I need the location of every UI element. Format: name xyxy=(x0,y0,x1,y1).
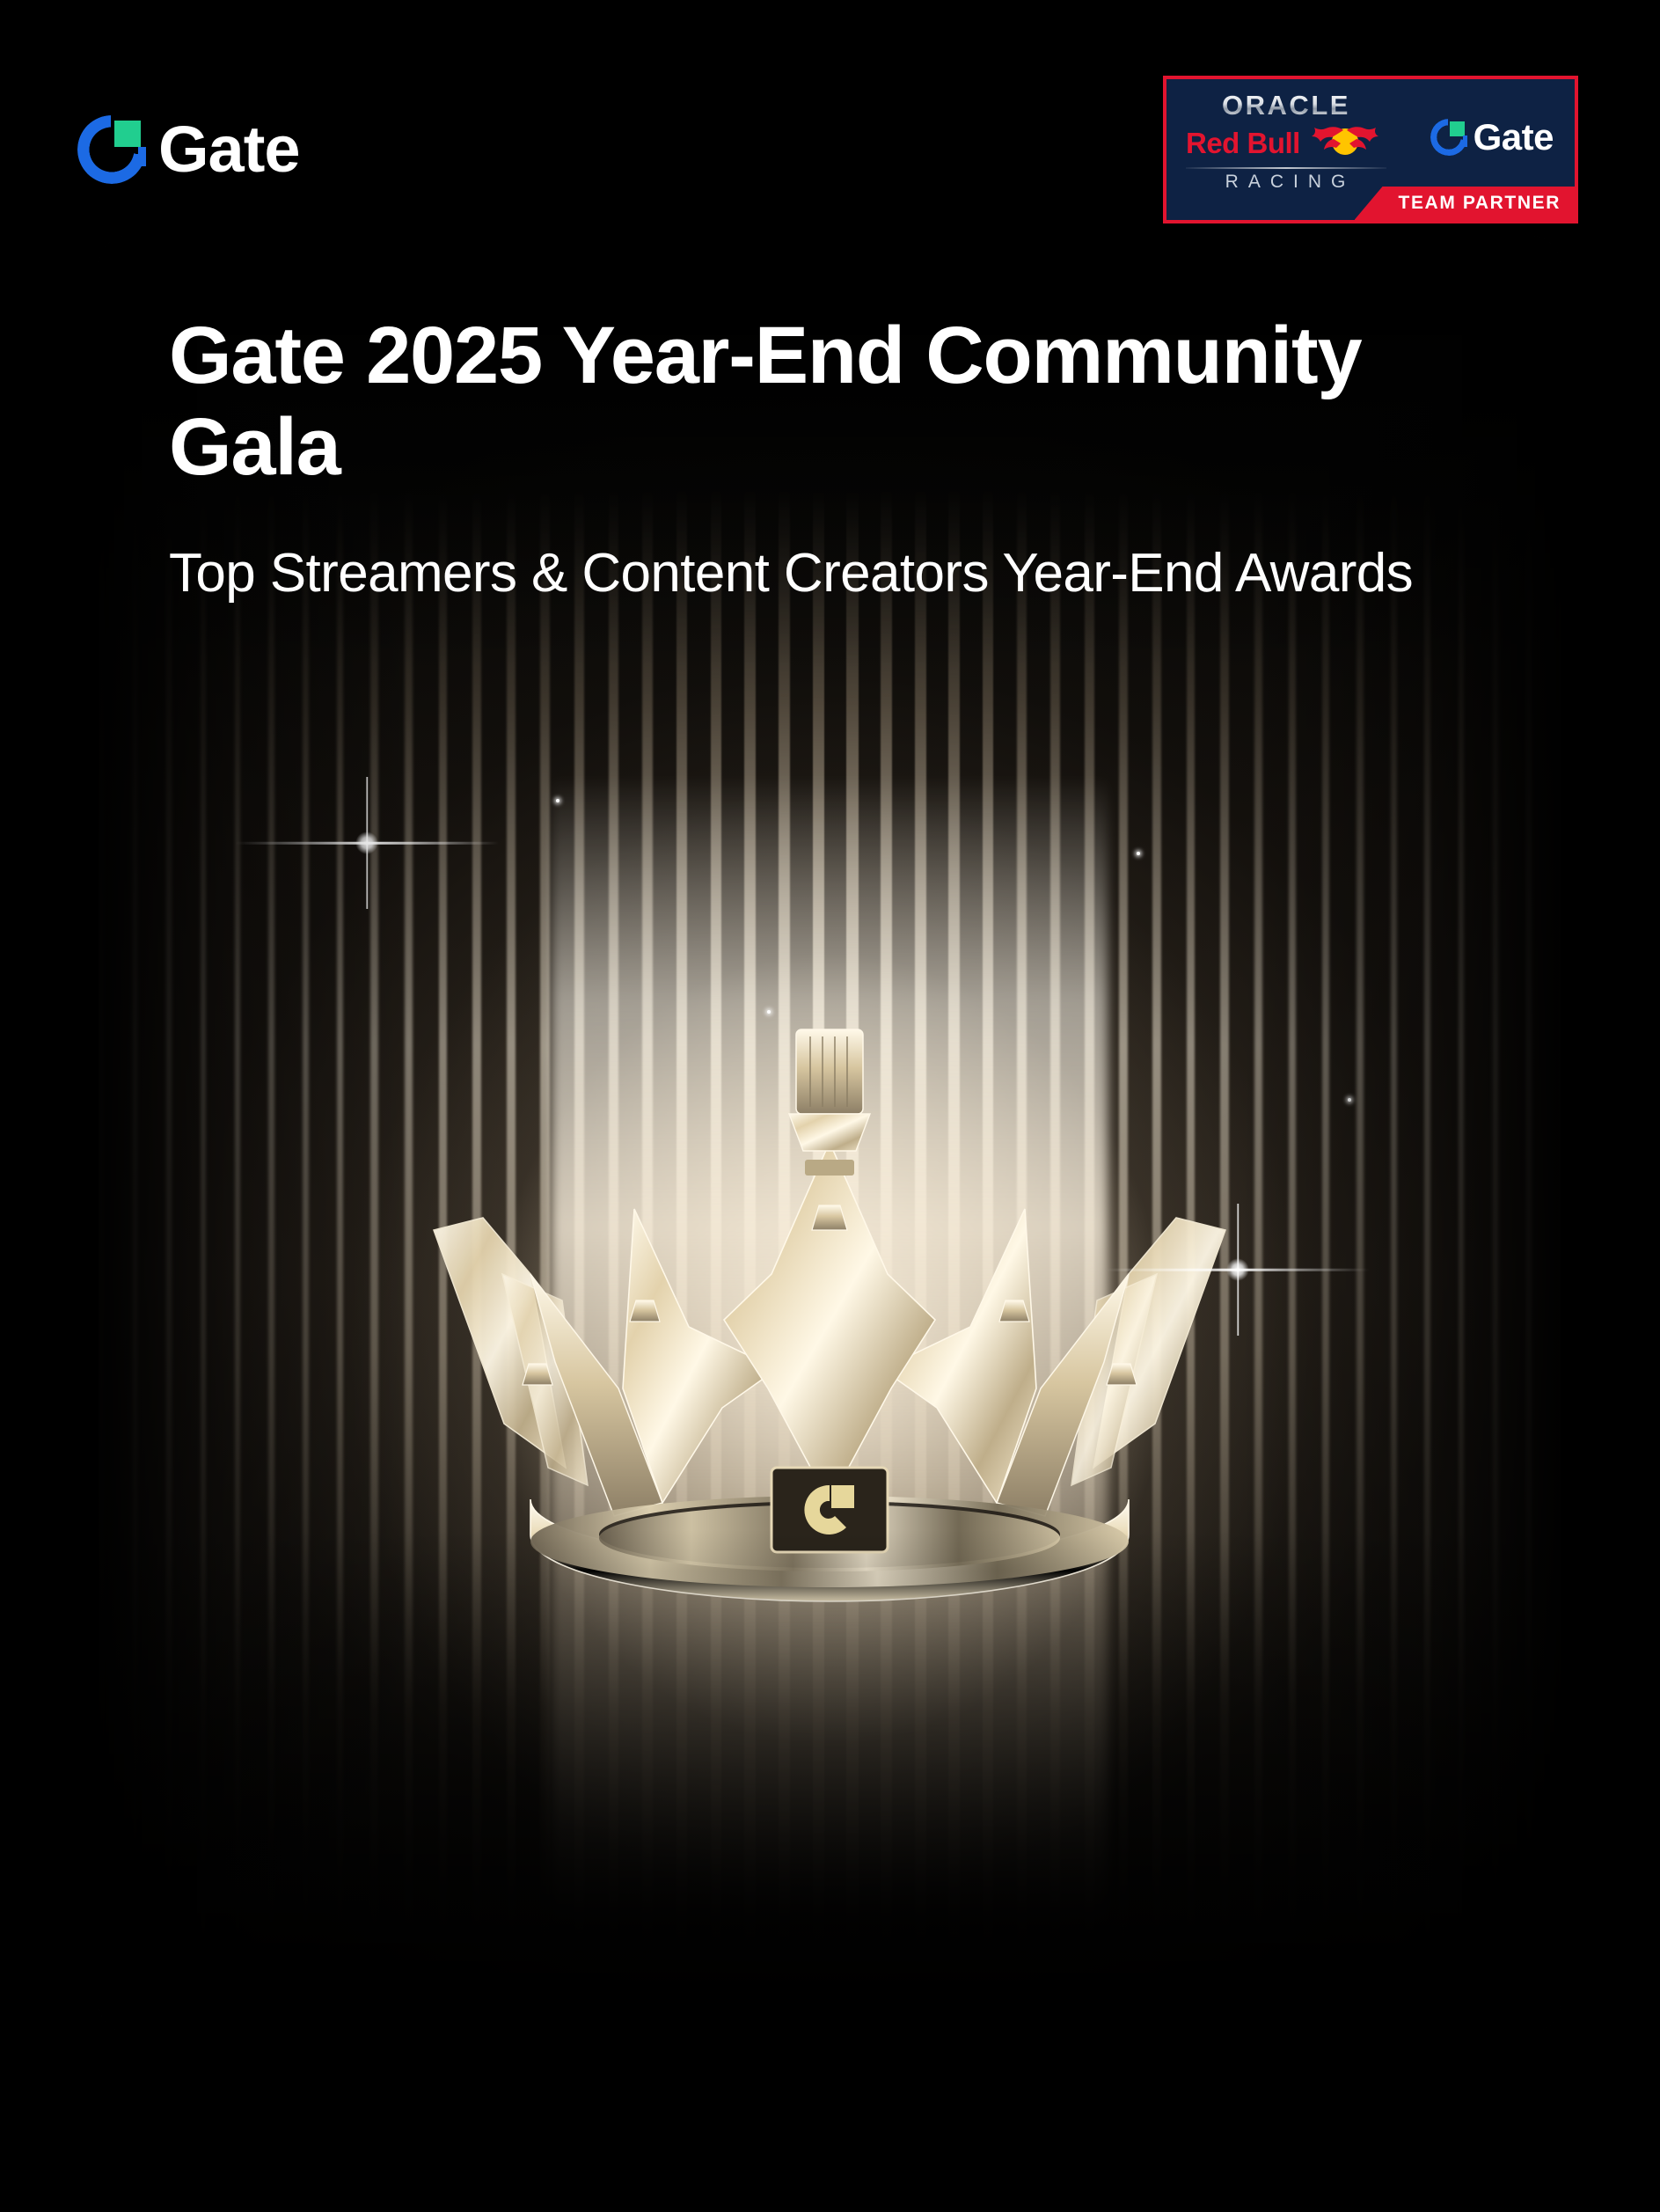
red-bull-racing-lockup: ORACLE Red Bull RACING xyxy=(1186,90,1386,195)
team-partner-ribbon: TEAM PARTNER xyxy=(1355,187,1576,220)
red-bull-wordmark: Red Bull xyxy=(1186,127,1300,160)
racing-wordmark: RACING xyxy=(1186,169,1386,195)
badge-gate-wordmark: Gate xyxy=(1474,118,1554,157)
event-banner-card[interactable]: Gate 2025 Year-End Community Gala Top St… xyxy=(99,236,1561,2033)
oracle-red-bull-racing-partner-badge[interactable]: ORACLE Red Bull RACING xyxy=(1163,76,1578,223)
oracle-wordmark: ORACLE xyxy=(1186,90,1386,121)
gate-logo-mark-icon xyxy=(77,115,146,184)
page-header: Gate ORACLE Red Bull RACING xyxy=(0,0,1660,238)
badge-gate-logo: Gate xyxy=(1430,118,1554,157)
gate-logo-mark-icon xyxy=(1430,119,1467,156)
event-title: Gate 2025 Year-End Community Gala xyxy=(169,311,1490,494)
gate-wordmark: Gate xyxy=(158,115,300,184)
event-subtitle: Top Streamers & Content Creators Year-En… xyxy=(169,541,1490,605)
card-text-overlay: Gate 2025 Year-End Community Gala Top St… xyxy=(99,236,1561,605)
gate-brand-logo[interactable]: Gate xyxy=(77,113,300,187)
red-bull-charging-bulls-icon xyxy=(1307,123,1383,163)
